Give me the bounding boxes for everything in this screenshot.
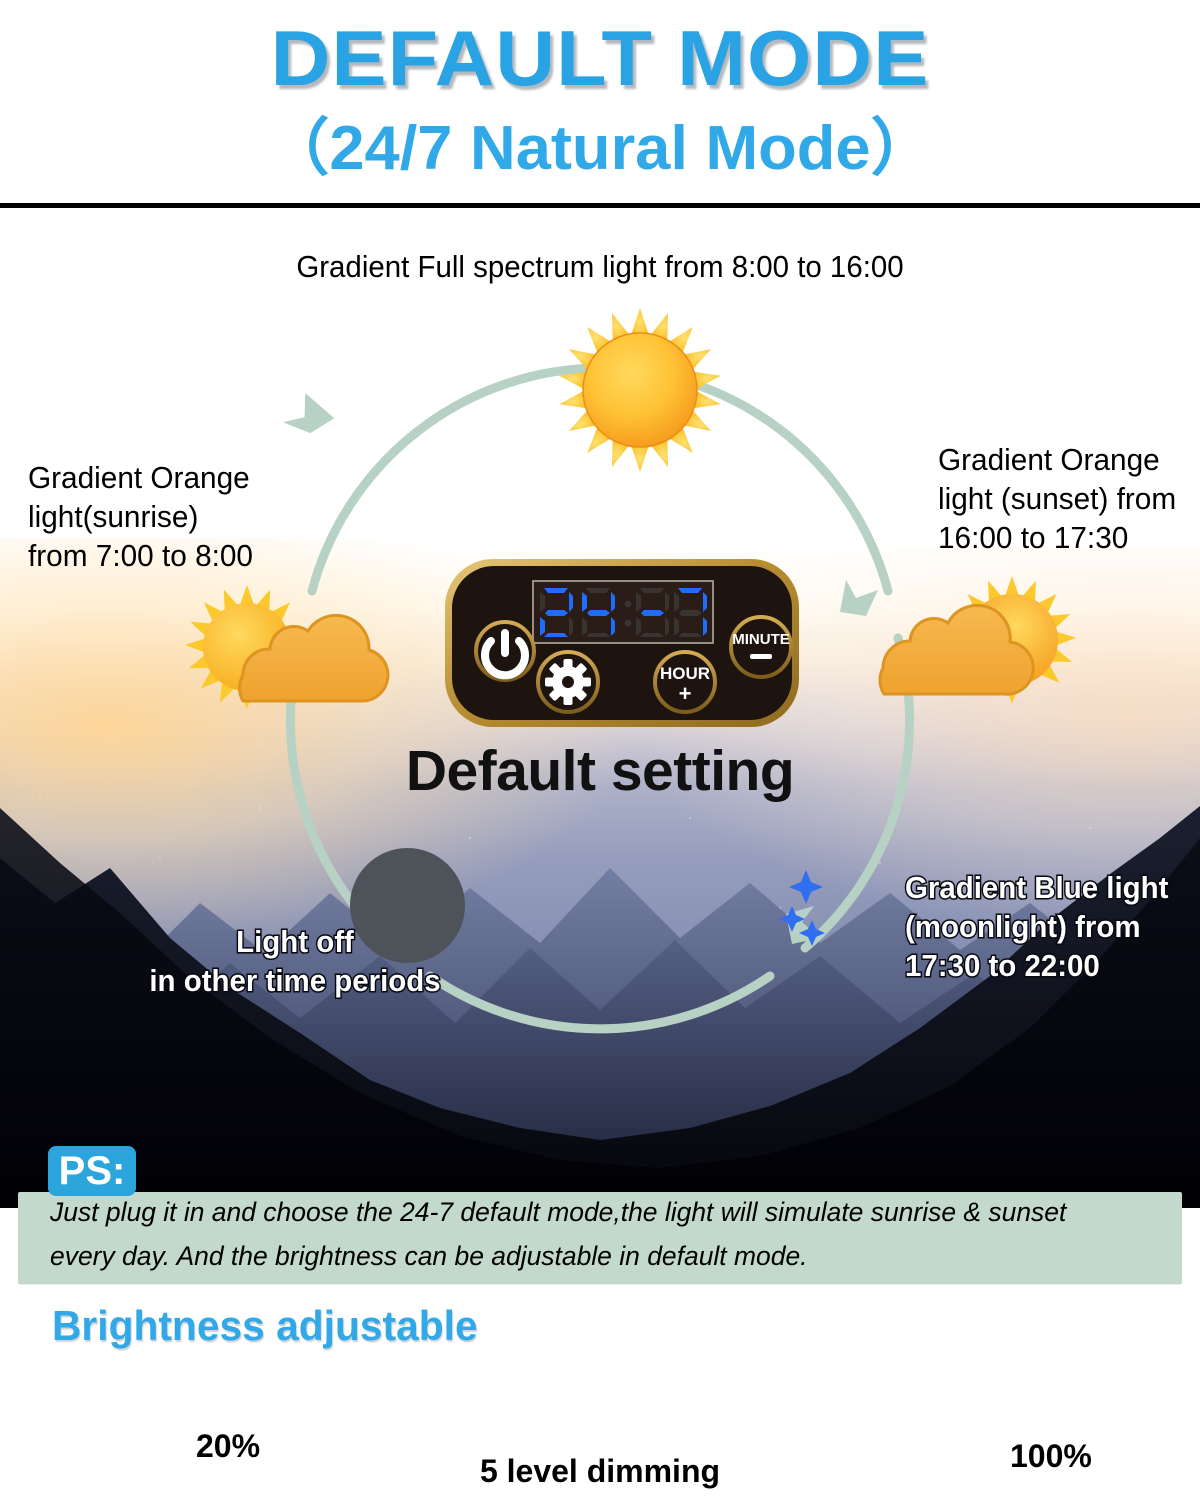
default-setting-caption: Default setting [0,740,1200,802]
sun-behind-cloud-sunset-icon [862,570,1087,720]
ps-text: Just plug it in and choose the 24-7 defa… [50,1190,1148,1278]
ps-text-line2: every day. And the brightness can be adj… [50,1234,1148,1278]
label-sunset: Gradient Orange light (sunset) from 16:0… [938,440,1190,557]
ps-badge: PS: [48,1146,136,1196]
label-moonlight-line2: (moonlight) from [905,907,1190,946]
label-full-spectrum: Gradient Full spectrum light from 8:00 t… [30,248,1170,286]
label-sunset-line1: Gradient Orange [938,440,1190,479]
label-light-off-line2: in other time periods [72,961,519,1000]
label-sunrise-line3: from 7:00 to 8:00 [28,536,354,575]
crescent-moon-icon [772,852,927,992]
sun-icon [545,305,735,475]
header-divider [0,203,1200,208]
dimming-caption: 5 level dimming [0,1452,1200,1490]
led-display [535,583,711,641]
label-moonlight: Gradient Blue light (moonlight) from 17:… [905,868,1190,985]
power-button[interactable] [473,619,537,683]
settings-gear-button[interactable] [535,649,601,715]
hour-plus-button[interactable]: HOUR + [652,649,718,715]
label-moonlight-line3: 17:30 to 22:00 [905,946,1190,985]
minute-button-label: MINUTE [732,631,790,648]
label-sunrise-line1: Gradient Orange [28,458,354,497]
infographic-page: DEFAULT MODE （24/7 Natural Mode） [0,0,1200,1500]
page-subtitle: （24/7 Natural Mode） [0,117,1200,181]
page-title: DEFAULT MODE [0,18,1200,98]
brightness-title: Brightness adjustable [52,1302,478,1350]
label-sunrise-line2: light(sunrise) [28,497,354,536]
control-panel[interactable]: HOUR + MINUTE [443,557,801,729]
header: DEFAULT MODE （24/7 Natural Mode） [0,0,1200,208]
label-light-off: Light off in other time periods [72,922,519,1000]
minute-minus-button[interactable]: MINUTE [727,613,795,681]
ps-text-line1: Just plug it in and choose the 24-7 defa… [50,1190,1148,1234]
label-sunrise: Gradient Orange light(sunrise) from 7:00… [28,458,354,575]
minus-icon [750,654,772,659]
hour-button-plus: + [679,681,692,706]
label-sunset-line3: 16:00 to 17:30 [938,518,1190,557]
label-light-off-line1: Light off [72,922,519,961]
sun-behind-cloud-sunrise-icon [175,585,390,725]
label-moonlight-line1: Gradient Blue light [905,868,1190,907]
label-sunset-line2: light (sunset) from [938,479,1190,518]
